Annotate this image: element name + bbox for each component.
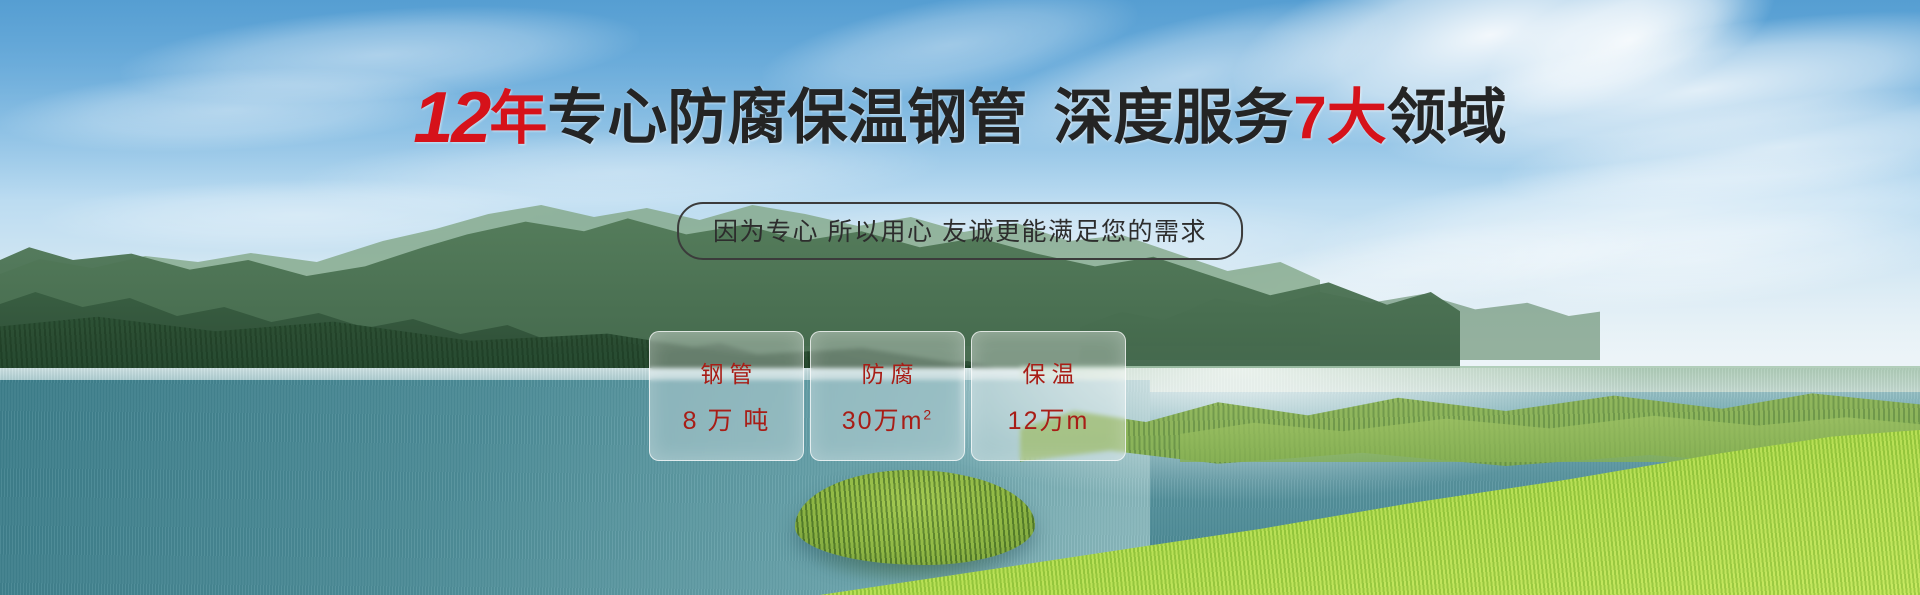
- stat-card-label: 钢管: [695, 355, 759, 389]
- stat-value-text: 8 万 吨: [683, 407, 771, 435]
- headline-part-one: 专心防腐保温钢管: [547, 84, 1027, 151]
- hero-banner: 12年专心防腐保温钢管深度服务7大领域 因为专心 所以用心 友诚更能满足您的需求…: [0, 0, 1920, 595]
- stat-value-text: 30万m: [842, 407, 924, 435]
- banner-content: 12年专心防腐保温钢管深度服务7大领域 因为专心 所以用心 友诚更能满足您的需求…: [0, 0, 1920, 595]
- stat-card-value: 8 万 吨: [683, 401, 771, 437]
- headline-years-number: 12: [413, 78, 489, 158]
- stat-card-value: 12万m: [1008, 401, 1090, 437]
- stat-card-value: 30万m2: [842, 401, 933, 437]
- stat-card-label: 保温: [1017, 355, 1081, 389]
- stat-card-anticorrosion[interactable]: 防腐 30万m2: [810, 331, 965, 461]
- headline-years-unit: 年: [489, 86, 547, 151]
- stat-card-insulation[interactable]: 保温 12万m: [971, 331, 1126, 461]
- stat-card-label: 防腐: [856, 355, 920, 389]
- headline-part-two: 深度服务: [1053, 84, 1293, 151]
- subtitle-pill: 因为专心 所以用心 友诚更能满足您的需求: [677, 202, 1243, 260]
- headline-part-three: 领域: [1387, 84, 1507, 151]
- headline-highlight: 7大: [1293, 84, 1386, 151]
- stat-card-group: 钢管 8 万 吨 防腐 30万m2 保温 12万m: [649, 331, 1126, 461]
- stat-value-superscript: 2: [923, 407, 933, 423]
- stat-value-text: 12万m: [1008, 407, 1090, 435]
- page-title: 12年专心防腐保温钢管深度服务7大领域: [0, 82, 1920, 154]
- stat-card-steel-pipe[interactable]: 钢管 8 万 吨: [649, 331, 804, 461]
